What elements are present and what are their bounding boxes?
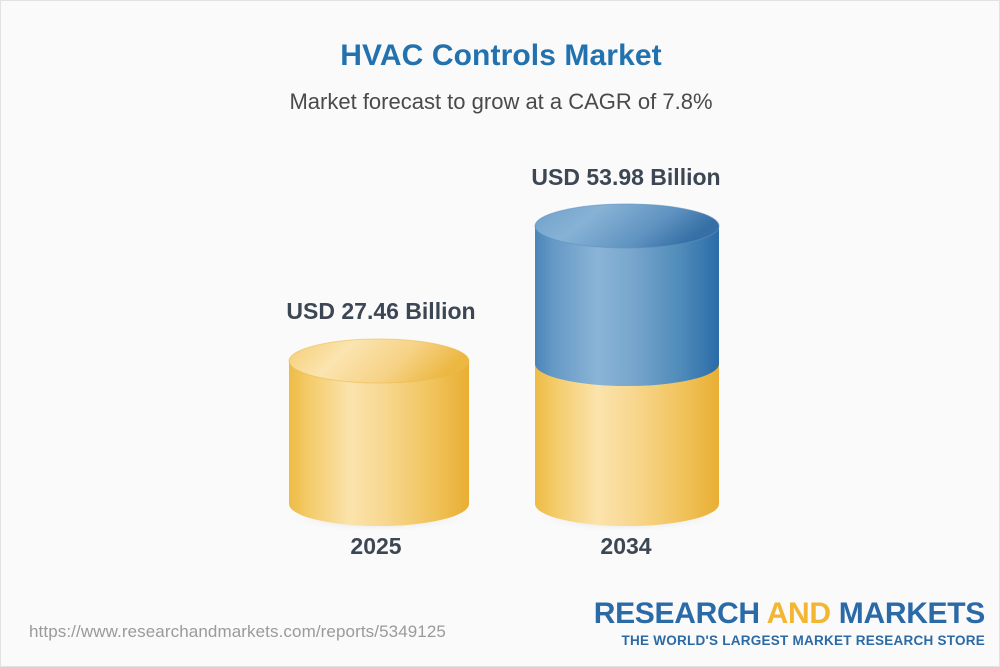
logo-word-markets: MARKETS [831,597,985,630]
logo-word-and: AND [767,597,831,630]
bar-2034-blue-segment [535,226,719,386]
logo-wordmark: RESEARCH AND MARKETS [594,599,985,629]
research-and-markets-logo[interactable]: RESEARCH AND MARKETS THE WORLD'S LARGEST… [594,599,985,648]
bar-2034[interactable] [525,204,729,533]
logo-tagline: THE WORLD'S LARGEST MARKET RESEARCH STOR… [594,634,985,648]
report-url[interactable]: https://www.researchandmarkets.com/repor… [29,622,446,642]
bar-2034-yellow-segment [535,364,719,526]
bar-2025[interactable] [279,339,479,533]
chart-canvas: HVAC Controls Market Market forecast to … [0,0,1000,667]
value-label-2025: USD 27.46 Billion [216,298,546,325]
category-label-2034: 2034 [506,533,746,560]
cylinder-chart [1,1,1000,667]
category-label-2025: 2025 [256,533,496,560]
value-label-2034: USD 53.98 Billion [461,164,791,191]
logo-word-research: RESEARCH [594,597,767,630]
bar-2025-body [289,361,469,526]
